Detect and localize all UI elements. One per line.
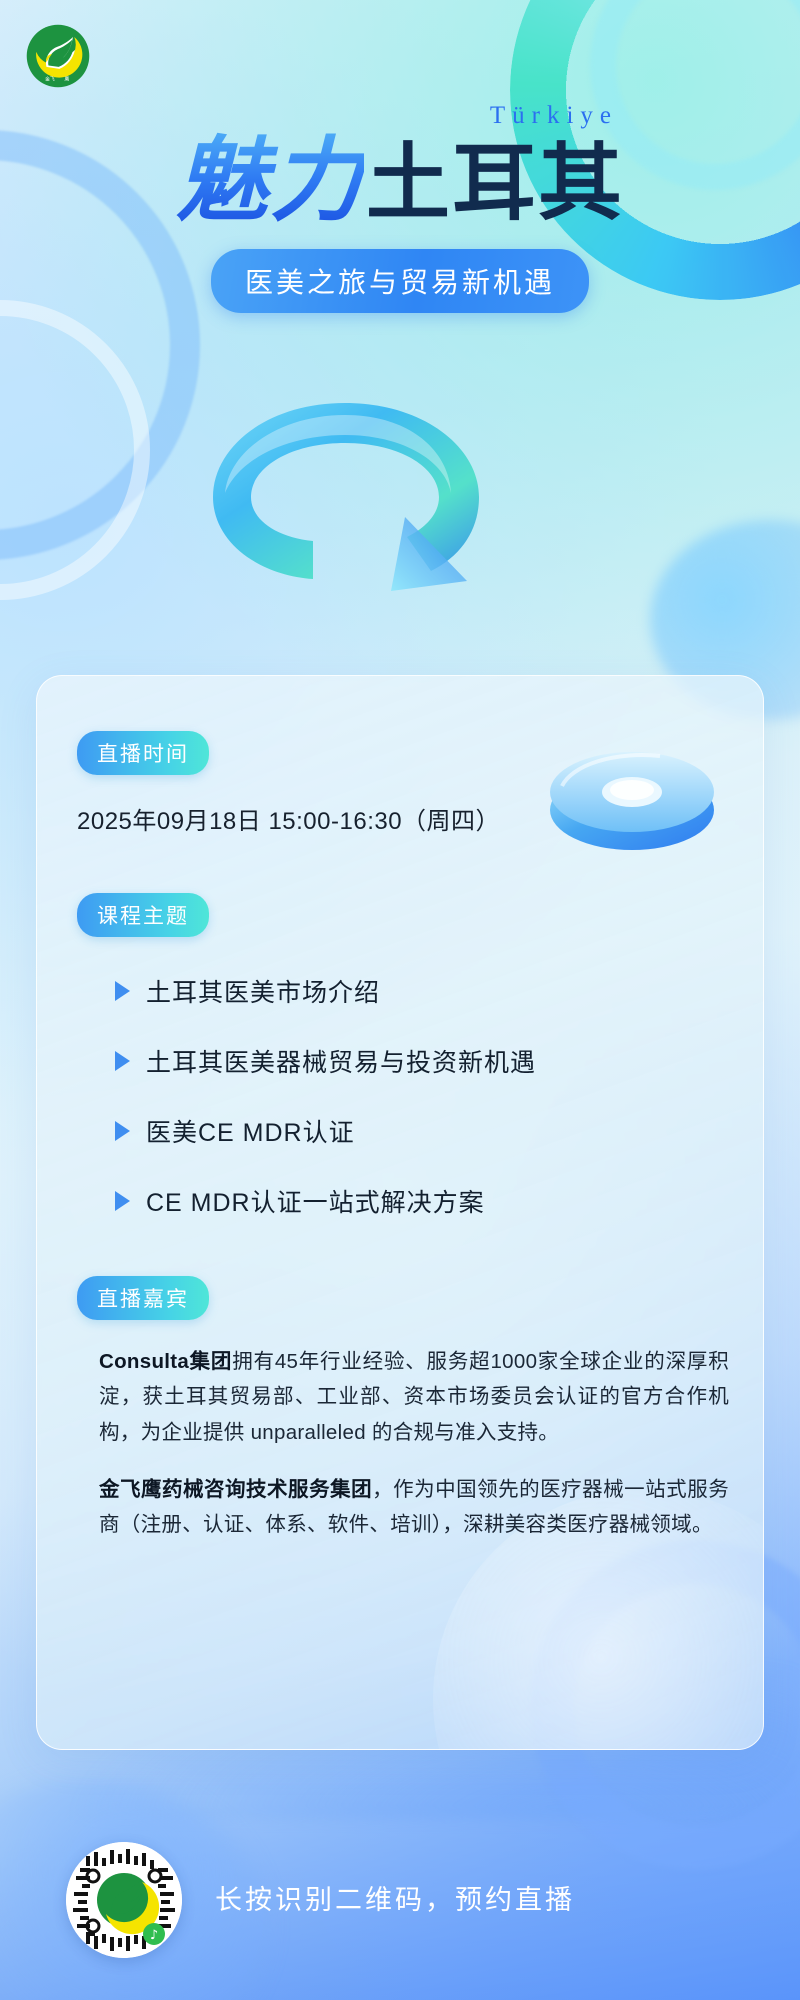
live-time-section: 直播时间 xyxy=(77,731,209,775)
headline-blue-word: 魅力 xyxy=(176,127,364,234)
poster-root: 金飞 鹰 Türkiye 魅力土耳其 医美之旅与贸易新机遇 xyxy=(0,0,800,2000)
topic-label: CE MDR认证一站式解决方案 xyxy=(146,1183,485,1219)
wechat-qr-code-icon[interactable]: ♪ xyxy=(66,1842,182,1958)
circular-arrow-3d-icon xyxy=(195,385,495,605)
topic-badge: 课程主题 xyxy=(77,893,209,937)
list-item: 土耳其医美市场介绍 xyxy=(115,956,715,1026)
headline-dark-word: 土耳其 xyxy=(366,134,624,232)
guest-paragraph-lead: Consulta集团 xyxy=(99,1350,232,1373)
live-time-value: 2025年09月18日 15:00-16:30（周四） xyxy=(77,801,500,836)
eagle-crescent-logo-icon: 金飞 鹰 xyxy=(24,22,92,90)
triangle-bullet-icon xyxy=(115,1121,130,1141)
footer: ♪ 长按识别二维码，预约直播 xyxy=(0,1820,800,2000)
headline-subtitle-pill: 医美之旅与贸易新机遇 xyxy=(211,249,589,313)
headline-row: Türkiye 魅力土耳其 xyxy=(176,135,624,227)
list-item: 医美CE MDR认证 xyxy=(115,1096,715,1166)
list-item: CE MDR认证一站式解决方案 xyxy=(115,1166,715,1236)
topic-label: 土耳其医美市场介绍 xyxy=(146,973,380,1009)
topic-label: 土耳其医美器械贸易与投资新机遇 xyxy=(146,1043,536,1079)
guest-paragraph: 金飞鹰药械咨询技术服务集团，作为中国领先的医疗器械一站式服务商（注册、认证、体系… xyxy=(99,1472,729,1543)
content-card: 直播时间 2025年09月18日 15:00-16:30（周四） 课程主题 土耳… xyxy=(36,675,764,1750)
headline-block: Türkiye 魅力土耳其 医美之旅与贸易新机遇 xyxy=(0,135,800,313)
triangle-bullet-icon xyxy=(115,1051,130,1071)
guest-section: 直播嘉宾 xyxy=(77,1276,209,1320)
topic-label: 医美CE MDR认证 xyxy=(146,1113,355,1149)
guest-paragraph: Consulta集团拥有45年行业经验、服务超1000家全球企业的深厚积淀，获土… xyxy=(99,1344,729,1450)
guest-paragraph-lead: 金飞鹰药械咨询技术服务集团 xyxy=(99,1478,372,1501)
headline-overline: Türkiye xyxy=(490,103,618,128)
triangle-bullet-icon xyxy=(115,981,130,1001)
left-arc-inner-decoration xyxy=(0,300,150,600)
footer-cta-text: 长按识别二维码，预约直播 xyxy=(215,1878,575,1917)
guest-paragraphs: Consulta集团拥有45年行业经验、服务超1000家全球企业的深厚积淀，获土… xyxy=(99,1344,729,1564)
list-item: 土耳其医美器械贸易与投资新机遇 xyxy=(115,1026,715,1096)
triangle-bullet-icon xyxy=(115,1191,130,1211)
svg-text:♪: ♪ xyxy=(150,1928,158,1943)
guest-badge: 直播嘉宾 xyxy=(77,1276,209,1320)
topic-list: 土耳其医美市场介绍 土耳其医美器械贸易与投资新机遇 医美CE MDR认证 CE … xyxy=(115,956,715,1236)
blue-disc-3d-icon xyxy=(540,726,725,861)
topic-section: 课程主题 xyxy=(77,893,209,937)
live-time-badge: 直播时间 xyxy=(77,731,209,775)
